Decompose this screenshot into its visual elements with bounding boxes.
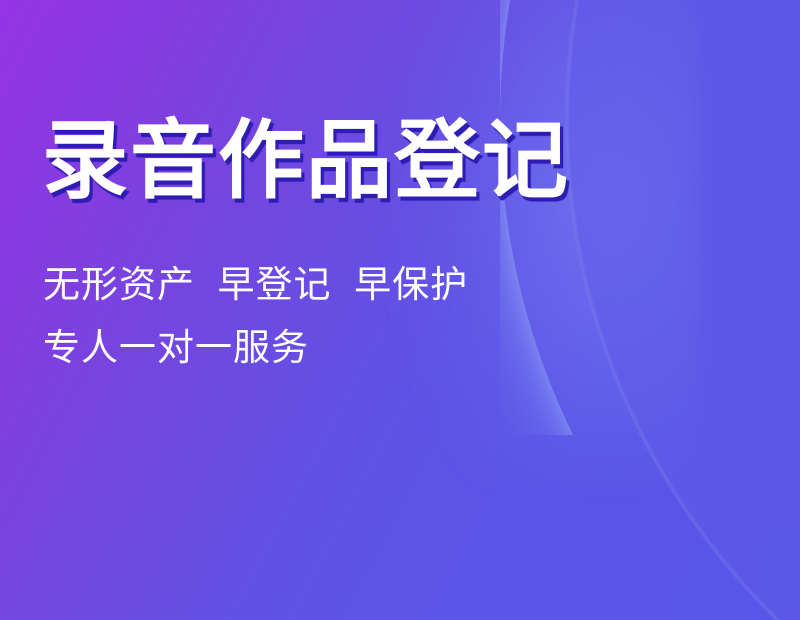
banner-subtitle-line-1: 无形资产 早登记 早保护 xyxy=(43,266,468,303)
promo-banner: 录音作品登记 无形资产 早登记 早保护 专人一对一服务 xyxy=(0,0,800,620)
banner-subtitle-line-2: 专人一对一服务 xyxy=(43,329,309,366)
banner-text-block: 录音作品登记 无形资产 早登记 早保护 专人一对一服务 xyxy=(42,0,742,620)
banner-headline: 录音作品登记 xyxy=(42,118,570,204)
